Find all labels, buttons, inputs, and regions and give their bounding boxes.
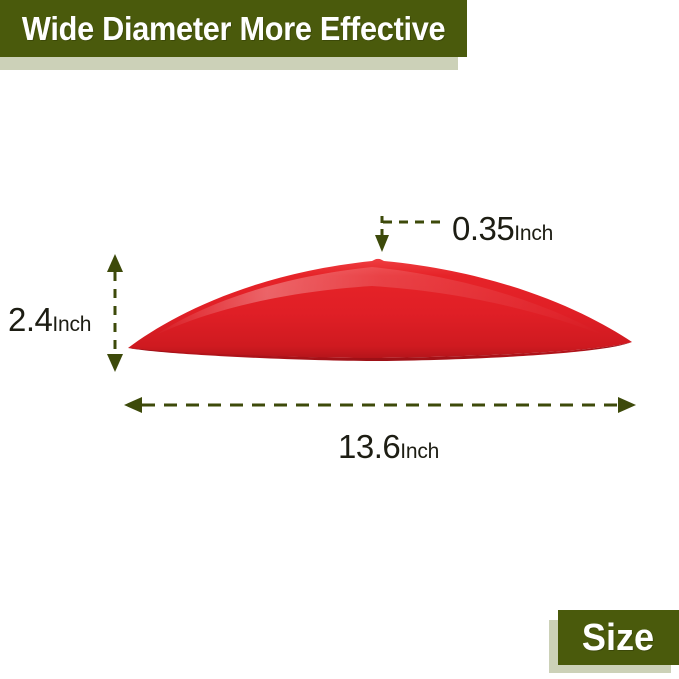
infographic-canvas: Wide Diameter More Effective	[0, 0, 679, 679]
product-illustration	[128, 252, 632, 360]
header-title: Wide Diameter More Effective	[22, 12, 445, 45]
down-arrow-icon	[107, 354, 123, 372]
up-arrow-icon	[107, 254, 123, 272]
size-badge: Size	[558, 610, 679, 665]
width-dimension	[120, 394, 640, 416]
size-badge-label: Size	[582, 619, 654, 657]
height-label: 2.4Inch	[8, 303, 91, 336]
width-unit: Inch	[400, 440, 439, 463]
height-unit: Inch	[52, 313, 91, 336]
header-banner-shadow	[0, 57, 458, 70]
height-value: 2.4	[8, 301, 52, 338]
header-banner: Wide Diameter More Effective	[0, 0, 467, 57]
width-value: 13.6	[338, 428, 400, 465]
height-dimension	[104, 252, 126, 374]
thickness-label: 0.35Inch	[452, 212, 553, 245]
down-arrow-icon	[375, 235, 389, 252]
thickness-value: 0.35	[452, 210, 514, 247]
right-arrow-icon	[618, 397, 636, 413]
thickness-unit: Inch	[514, 222, 553, 245]
width-label: 13.6Inch	[338, 430, 439, 463]
left-arrow-icon	[124, 397, 142, 413]
